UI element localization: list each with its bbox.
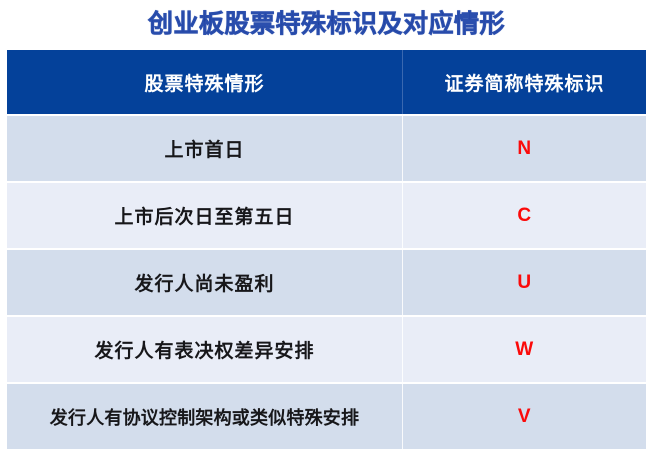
table-row: 上市后次日至第五日 C xyxy=(7,183,646,248)
condition-text: 发行人有协议控制架构或类似特殊安排 xyxy=(50,404,359,430)
mark-text: C xyxy=(517,205,531,227)
mark-text: V xyxy=(518,406,531,428)
table-header-condition: 股票特殊情形 xyxy=(7,50,403,114)
table-cell-mark: V xyxy=(403,384,646,449)
condition-text: 上市后次日至第五日 xyxy=(114,202,294,229)
page-title: 创业板股票特殊标识及对应情形 xyxy=(0,4,653,40)
table-row: 发行人有表决权差异安排 W xyxy=(7,317,646,382)
mark-text: U xyxy=(517,272,531,294)
mark-text: W xyxy=(515,339,533,361)
table-cell-condition: 上市首日 xyxy=(7,116,403,181)
table-cell-mark: W xyxy=(403,317,646,382)
condition-text: 发行人有表决权差异安排 xyxy=(94,336,314,363)
table-cell-mark: U xyxy=(403,250,646,315)
table-cell-condition: 上市后次日至第五日 xyxy=(7,183,403,248)
table-row: 发行人有协议控制架构或类似特殊安排 V xyxy=(7,384,646,449)
page-root: 创业板股票特殊标识及对应情形 股票特殊情形 证券简称特殊标识 上市首日 N 上市… xyxy=(0,0,653,454)
table-cell-condition: 发行人尚未盈利 xyxy=(7,250,403,315)
table-row: 发行人尚未盈利 U xyxy=(7,250,646,315)
table-header-mark: 证券简称特殊标识 xyxy=(403,50,646,114)
mark-text: N xyxy=(517,138,531,160)
table-cell-mark: N xyxy=(403,116,646,181)
table-row: 上市首日 N xyxy=(7,116,646,181)
condition-text: 上市首日 xyxy=(164,135,244,162)
condition-text: 发行人尚未盈利 xyxy=(134,269,274,296)
special-marks-table: 股票特殊情形 证券简称特殊标识 上市首日 N 上市后次日至第五日 C 发行人尚未… xyxy=(7,50,646,451)
table-cell-condition: 发行人有协议控制架构或类似特殊安排 xyxy=(7,384,403,449)
table-cell-condition: 发行人有表决权差异安排 xyxy=(7,317,403,382)
table-header-row: 股票特殊情形 证券简称特殊标识 xyxy=(7,50,646,114)
table-cell-mark: C xyxy=(403,183,646,248)
